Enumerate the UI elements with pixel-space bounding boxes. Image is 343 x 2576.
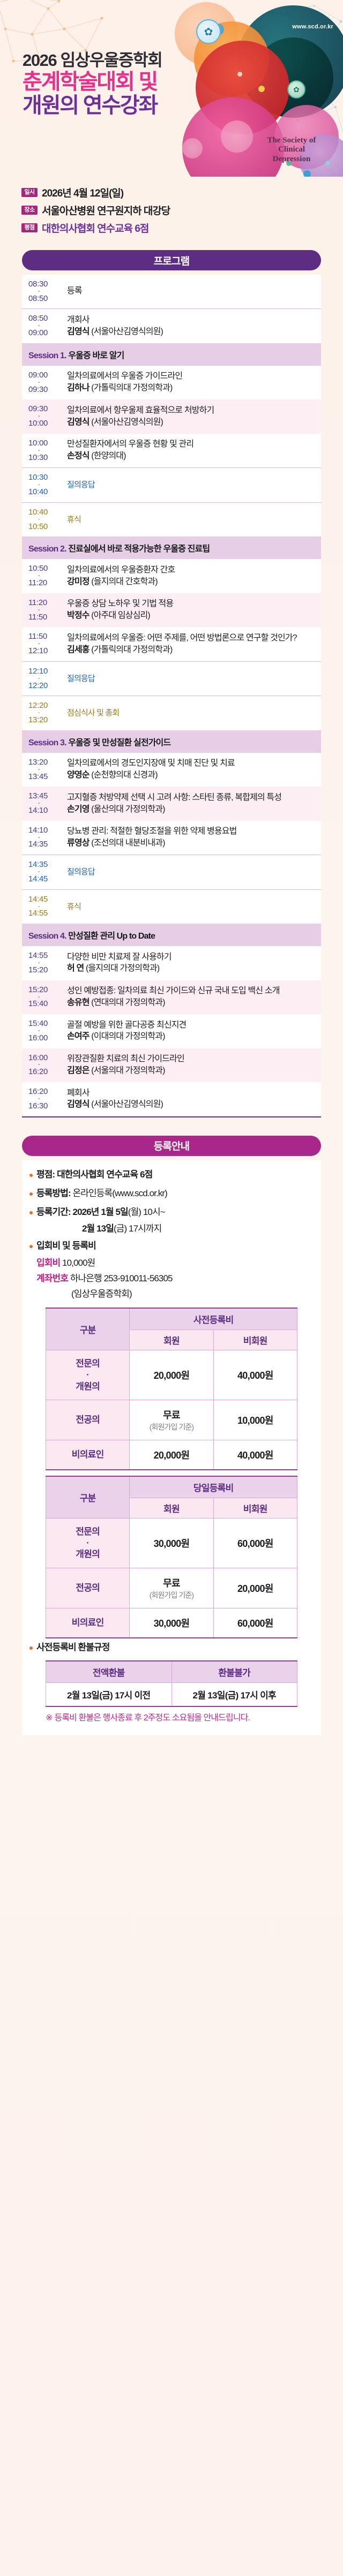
program-time: 14:10-14:35	[28, 826, 67, 849]
fee-line-1: 계좌번호 하나은행 253-910011-56305	[22, 1271, 321, 1287]
registration-bullet-1-text: 등록방법: 온라인등록(www.scd.or.kr)	[36, 1188, 167, 1200]
fee-col-header-nonmember: 비회원	[213, 1330, 297, 1350]
program-speaker: 김영식 (서울아산김영식의원)	[67, 1099, 316, 1111]
session-title: 만성질환 관리 Up to Date	[68, 932, 155, 941]
speaker-name: 김정은	[67, 1066, 90, 1075]
fee-line-label: 계좌번호	[36, 1273, 68, 1283]
program-speaker: 김하나 (가톨릭의대 가정의학과)	[67, 383, 316, 394]
fee-category: 전공의	[46, 1400, 130, 1440]
program-title: 휴식	[67, 515, 316, 525]
time-end: 16:00	[28, 1034, 48, 1043]
program-body: 우울증 상담 노하우 및 기법 적용박정수 (아주대 임상심리)	[67, 599, 316, 622]
program-speaker: 양영순 (순천향의대 신경과)	[67, 770, 316, 781]
program-body: 고지혈증 처방약제 선택 시 고려 사항: 스타틴 종류, 복합제의 특성손기영…	[67, 792, 316, 815]
fee-line-0: 입회비 10,000원	[22, 1256, 321, 1271]
meta-tag-label: 평점	[21, 223, 38, 232]
speaker-name: 허 연	[67, 964, 84, 973]
program-time: 15:40-16:00	[28, 1019, 67, 1043]
program-title: 일차의료에서의 경도인지장애 및 치매 진단 및 치료	[67, 758, 316, 769]
period-end-time: (금) 17시까지	[114, 1223, 161, 1234]
program-body: 휴식	[67, 508, 316, 531]
time-end: 12:10	[28, 647, 48, 656]
meta-value: 대한의사협회 연수교육 6점	[42, 221, 148, 235]
program-time: 14:35-14:45	[28, 860, 67, 883]
time-end: 11:20	[28, 579, 47, 588]
program-speaker: 김세홍 (가톨릭의대 가정의학과)	[67, 645, 316, 656]
program-time: 13:20-13:45	[28, 758, 67, 781]
fee-col-header-member: 회원	[130, 1330, 213, 1350]
program-row: 16:00-16:20위장관질환 치료의 최신 가이드라인김정은 (서울의대 가…	[22, 1048, 321, 1082]
meta-row-장소: 장소서울아산병원 연구원지하 대강당	[21, 203, 343, 217]
registration-period-line-2: 2월 13일(금) 17시까지	[22, 1221, 321, 1237]
registration-bullet-0-text: 평점: 대한의사협회 연수교육 6점	[36, 1169, 152, 1181]
fee-member-value: 무료(회원가입 기준)	[130, 1568, 213, 1608]
program-speaker: 박정수 (아주대 임상심리)	[67, 610, 316, 622]
program-body: 성인 예방접종: 일차의료 최신 가이드와 신규 국내 도입 백신 소개송유현 …	[67, 986, 316, 1009]
program-row: 14:10-14:35당뇨병 관리: 적절한 혈당조절을 위한 약제 병용요법류…	[22, 821, 321, 855]
program-time: 08:50-09:00	[28, 314, 67, 337]
bullet-label: 등록방법:	[36, 1188, 73, 1198]
program-row: 10:30-10:40질의응답	[22, 467, 321, 502]
time-end: 11:50	[28, 613, 47, 622]
speaker-name: 김세홍	[67, 645, 90, 654]
program-body: 질의응답	[67, 860, 316, 883]
fee-col-header-category: 구분	[46, 1476, 130, 1519]
session-header: Session 4. 만성질환 관리 Up to Date	[22, 924, 321, 946]
program-title: 휴식	[67, 902, 316, 912]
registration-bullet-1: 등록방법: 온라인등록(www.scd.or.kr)	[22, 1184, 321, 1203]
session-title: 진료실에서 바로 적용가능한 우울증 진료팁	[68, 545, 210, 554]
footnote-text: 등록비 환불은 행사종료 후 2주정도 소요됨을 안내드립니다.	[55, 1712, 250, 1724]
speaker-name: 손기영	[67, 805, 90, 814]
program-time: 09:30-10:00	[28, 405, 67, 428]
time-end: 10:40	[28, 488, 48, 497]
program-time: 10:30-10:40	[28, 473, 67, 496]
program-time: 09:00-09:30	[28, 371, 67, 394]
fee-member-amount: 30,000원	[131, 1616, 212, 1630]
title-line-1: 2026 임상우울증학회	[23, 51, 162, 69]
title-line-3: 개원의 연수강좌	[23, 94, 162, 117]
fee-col-header-member: 회원	[130, 1498, 213, 1518]
program-title: 점심식사 및 총회	[67, 708, 316, 719]
session-title: 우울증 및 만성질환 실전가이드	[68, 738, 170, 747]
fee-member-amount: 무료	[131, 1576, 212, 1590]
program-time: 14:45-14:55	[28, 895, 67, 918]
fee-col-header-nonmember: 비회원	[213, 1498, 297, 1518]
program-row: 14:45-14:55휴식	[22, 889, 321, 924]
refund-footnote: ※등록비 환불은 행사종료 후 2주정도 소요됨을 안내드립니다.	[46, 1712, 297, 1724]
program-row: 09:00-09:30일차의료에서의 우울증 가이드라인김하나 (가톨릭의대 가…	[22, 366, 321, 399]
time-end: 10:30	[28, 454, 48, 463]
decor-blob-soft-2	[182, 138, 203, 158]
program-title: 당뇨병 관리: 적절한 혈당조절을 위한 약제 병용요법	[67, 826, 316, 837]
society-name-en: The Society of Clinical Depression	[259, 136, 324, 164]
time-end: 09:30	[28, 386, 48, 395]
fee-member-amount: 20,000원	[131, 1368, 212, 1382]
registration-bullet-0: 평점: 대한의사협회 연수교육 6점	[22, 1166, 321, 1184]
time-end: 14:10	[28, 806, 48, 815]
hero-header: ✿ ✿ www.scd.or.kr The Society of Clinica…	[0, 0, 343, 177]
program-time: 13:45-14:10	[28, 792, 67, 815]
session-header: Session 3. 우울증 및 만성질환 실전가이드	[22, 730, 321, 753]
program-time: 11:50-12:10	[28, 632, 67, 655]
program-row: 12:20-13:20점심식사 및 총회	[22, 696, 321, 730]
flower-hands-emblem-small-icon: ✿	[287, 80, 305, 99]
program-time: 08:30-08:50	[28, 280, 67, 303]
program-speaker: 허 연 (을지의대 가정의학과)	[67, 963, 316, 975]
program-speaker: 김영식 (서울아산김영식의원)	[67, 327, 316, 338]
footnote-mark-icon: ※	[46, 1712, 53, 1724]
fee-table-row: 전문의·개원의30,000원60,000원	[46, 1518, 297, 1568]
fee-nonmember-value: 60,000원	[213, 1608, 297, 1638]
fee-category: 비의료인	[46, 1608, 130, 1638]
decor-dot-yellow	[258, 86, 265, 92]
program-body: 일차의료에서 항우울제 효율적으로 처방하기김영식 (서울아산김영식의원)	[67, 405, 316, 428]
session-header: Session 2. 진료실에서 바로 적용가능한 우울증 진료팁	[22, 537, 321, 559]
program-speaker: 김정은 (서울의대 가정의학과)	[67, 1066, 316, 1077]
speaker-name: 박정수	[67, 611, 90, 620]
time-end: 13:20	[28, 716, 48, 725]
fee-category: 전문의·개원의	[46, 1518, 130, 1568]
speaker-affiliation: (이대의대 가정의학과)	[90, 1032, 165, 1041]
program-time: 10:50-11:20	[28, 564, 67, 587]
program-speaker: 김영식 (서울아산김영식의원)	[67, 417, 316, 428]
registration-banner: 등록안내	[22, 1136, 321, 1156]
program-row: 15:20-15:40성인 예방접종: 일차의료 최신 가이드와 신규 국내 도…	[22, 980, 321, 1014]
speaker-name: 양영순	[67, 770, 90, 780]
program-row: 11:50-12:10일차의료에서의 우울증: 어떤 주제를, 어떤 방법론으로…	[22, 627, 321, 661]
fee-table-row: 전공의무료(회원가입 기준)20,000원	[46, 1568, 297, 1608]
program-body: 일차의료에서의 우울증환자 간호강미정 (을지의대 간호학과)	[67, 564, 316, 587]
session-number: Session 1.	[28, 351, 68, 360]
time-end: 16:20	[28, 1068, 48, 1077]
speaker-affiliation: (을지의대 간호학과)	[90, 577, 158, 586]
refund-value-0: 2월 13일(금) 17시 이전	[46, 1682, 172, 1706]
program-time: 10:00-10:30	[28, 439, 67, 462]
fee-nonmember-value: 20,000원	[213, 1568, 297, 1608]
program-row: 10:40-10:50휴식	[22, 502, 321, 537]
program-body: 등록	[67, 280, 316, 303]
meta-row-일시: 일시2026년 4월 12일(일)	[21, 185, 343, 200]
program-row: 09:30-10:00일차의료에서 항우울제 효율적으로 처방하기김영식 (서울…	[22, 399, 321, 433]
time-end: 10:00	[28, 419, 48, 428]
bullet-dot-icon	[29, 1211, 33, 1214]
refund-policy-bullet-text: 사전등록비 환불규정	[36, 1642, 109, 1654]
meta-value: 서울아산병원 연구원지하 대강당	[42, 203, 170, 217]
program-row: 08:30-08:50등록	[22, 275, 321, 308]
time-end: 14:35	[28, 840, 48, 849]
fee-table-0: 구분사전등록비회원비회원전문의·개원의20,000원40,000원전공의무료(회…	[46, 1308, 297, 1470]
program-body: 위장관질환 치료의 최신 가이드라인김정은 (서울의대 가정의학과)	[67, 1054, 316, 1077]
fee-col-header-category: 구분	[46, 1308, 130, 1350]
time-end: 12:20	[28, 682, 48, 691]
fee-table-row: 전공의무료(회원가입 기준)10,000원	[46, 1400, 297, 1440]
program-body: 골절 예방을 위한 골다공증 최신지견손여주 (이대의대 가정의학과)	[67, 1019, 316, 1043]
speaker-affiliation: (울산의대 가정의학과)	[90, 805, 165, 814]
time-end: 16:30	[28, 1102, 48, 1111]
program-body: 점심식사 및 총회	[67, 701, 316, 724]
program-body: 일차의료에서의 우울증 가이드라인김하나 (가톨릭의대 가정의학과)	[67, 371, 316, 394]
registration-bullet-2-text: 등록기간: 2026년 1월 5일(월) 10시~	[36, 1206, 165, 1219]
program-body: 질의응답	[67, 473, 316, 496]
bullet-strong: 6점	[140, 1169, 152, 1180]
time-end: 15:40	[28, 1000, 48, 1009]
refund-header-1: 환불불가	[171, 1661, 297, 1683]
program-time: 16:00-16:20	[28, 1054, 67, 1077]
program-row: 14:35-14:45질의응답	[22, 855, 321, 889]
fee-category: 비의료인	[46, 1440, 130, 1470]
website-url: www.scd.or.kr	[292, 24, 333, 30]
program-time: 14:55-15:20	[28, 951, 67, 975]
program-title: 일차의료에서의 우울증 가이드라인	[67, 371, 316, 382]
title-line-2: 춘계학술대회 및	[23, 71, 162, 93]
program-body: 개회사김영식 (서울아산김영식의원)	[67, 314, 316, 337]
speaker-name: 손정식	[67, 451, 90, 460]
fee-table-row: 전문의·개원의20,000원40,000원	[46, 1350, 297, 1400]
speaker-name: 송유현	[67, 998, 90, 1007]
conference-poster: ✿ ✿ www.scd.or.kr The Society of Clinica…	[0, 0, 343, 2576]
program-banner: 프로그램	[22, 250, 321, 270]
program-time: 15:20-15:40	[28, 986, 67, 1009]
registration-bullet-2: 등록기간: 2026년 1월 5일(월) 10시~	[22, 1203, 321, 1222]
program-title: 개회사	[67, 315, 316, 326]
decor-dot-cream	[237, 72, 242, 77]
speaker-affiliation: (서울의대 가정의학과)	[90, 1066, 165, 1075]
program-row: 10:00-10:30만성질환자에서의 우울증 현황 및 관리손정식 (한양의대…	[22, 434, 321, 467]
program-title: 고지혈증 처방약제 선택 시 고려 사항: 스타틴 종류, 복합제의 특성	[67, 792, 316, 804]
fee-table-row: 비의료인30,000원60,000원	[46, 1608, 297, 1638]
refund-table: 전액환불환불불가2월 13일(금) 17시 이전2월 13일(금) 17시 이후	[46, 1660, 297, 1707]
speaker-name: 강미정	[67, 577, 90, 586]
program-row: 15:40-16:00골절 예방을 위한 골다공증 최신지견손여주 (이대의대 …	[22, 1014, 321, 1048]
program-table: 08:30-08:50등록08:50-09:00개회사김영식 (서울아산김영식의…	[22, 275, 321, 1117]
session-title: 우울증 바로 알기	[68, 351, 124, 360]
fee-member-value: 30,000원	[130, 1518, 213, 1568]
program-title: 일차의료에서 항우울제 효율적으로 처방하기	[67, 405, 316, 417]
program-title: 골절 예방을 위한 골다공증 최신지견	[67, 1020, 316, 1031]
program-body: 일차의료에서의 우울증: 어떤 주제를, 어떤 방법론으로 연구할 것인가?김세…	[67, 632, 316, 655]
program-title: 만성질환자에서의 우울증 현황 및 관리	[67, 439, 316, 450]
session-header: Session 1. 우울증 바로 알기	[22, 343, 321, 366]
fee-nonmember-value: 10,000원	[213, 1400, 297, 1440]
decor-dot-cyan	[303, 170, 311, 177]
time-end: 14:55	[28, 909, 48, 918]
time-end: 13:45	[28, 773, 48, 782]
program-row: 10:50-11:20일차의료에서의 우울증환자 간호강미정 (을지의대 간호학…	[22, 559, 321, 593]
bullet-dot-icon	[29, 1245, 33, 1248]
registration-fee-bullet-text: 입회비 및 등록비	[36, 1240, 96, 1252]
decor-dot-lightblue	[325, 161, 330, 165]
bullet-label: 등록기간: 2026년	[36, 1207, 101, 1217]
meta-tag-label: 장소	[21, 206, 38, 215]
event-meta: 일시2026년 4월 12일(일)장소서울아산병원 연구원지하 대강당평점대한의…	[0, 177, 343, 244]
time-end: 15:20	[28, 966, 48, 975]
program-speaker: 손정식 (한양의대)	[67, 451, 316, 462]
fee-category: 전문의·개원의	[46, 1350, 130, 1400]
program-title: 일차의료에서의 우울증: 어떤 주제를, 어떤 방법론으로 연구할 것인가?	[67, 633, 316, 644]
bullet-dot-icon	[29, 1646, 33, 1650]
account-holder: (임상우울증학회)	[22, 1287, 321, 1302]
speaker-affiliation: (서울아산김영식의원)	[90, 327, 163, 336]
speaker-affiliation: (을지의대 가정의학과)	[84, 964, 159, 973]
fee-category: 전공의	[46, 1568, 130, 1608]
bullet-rest: 온라인등록(www.scd.or.kr)	[73, 1188, 167, 1198]
time-end: 09:00	[28, 329, 48, 338]
registration-panel: 평점: 대한의사협회 연수교육 6점등록방법: 온라인등록(www.scd.or…	[22, 1160, 321, 1736]
fee-nonmember-value: 60,000원	[213, 1518, 297, 1568]
session-number: Session 2.	[28, 545, 68, 554]
fee-bullet-label: 입회비 및 등록비	[36, 1241, 96, 1251]
fee-member-amount: 30,000원	[131, 1536, 212, 1550]
speaker-name: 김영식	[67, 1100, 90, 1109]
time-start: 15:20	[28, 986, 48, 995]
fee-line-value: 하나은행 253-910011-56305	[68, 1273, 173, 1283]
speaker-affiliation: (연대의대 가정의학과)	[90, 998, 165, 1007]
speaker-affiliation: (서울아산김영식의원)	[90, 418, 163, 427]
fee-member-value: 무료(회원가입 기준)	[130, 1400, 213, 1440]
bullet-rest: (월) 10시~	[128, 1207, 165, 1217]
program-time: 11:20-11:50	[28, 599, 67, 622]
fee-member-amount: 무료	[131, 1408, 212, 1422]
program-row: 12:10-12:20질의응답	[22, 661, 321, 696]
fee-nonmember-value: 40,000원	[213, 1440, 297, 1470]
program-body: 질의응답	[67, 667, 316, 690]
bullet-dot-icon	[29, 1192, 33, 1196]
program-title: 위장관질환 치료의 최신 가이드라인	[67, 1054, 316, 1065]
fee-member-note: (회원가입 기준)	[131, 1422, 212, 1432]
fee-nonmember-value: 40,000원	[213, 1350, 297, 1400]
program-title: 등록	[67, 286, 316, 297]
program-body: 당뇨병 관리: 적절한 혈당조절을 위한 약제 병용요법류영상 (조선의대 내분…	[67, 826, 316, 849]
session-number: Session 3.	[28, 738, 68, 747]
speaker-affiliation: (서울아산김영식의원)	[90, 1100, 163, 1109]
fee-table-row: 비의료인20,000원40,000원	[46, 1440, 297, 1470]
time-end: 08:50	[28, 294, 48, 304]
speaker-affiliation: (가톨릭의대 가정의학과)	[90, 383, 173, 392]
program-row: 13:20-13:45일차의료에서의 경도인지장애 및 치매 진단 및 치료양영…	[22, 753, 321, 787]
fee-line-value: 10,000원	[60, 1258, 95, 1268]
program-speaker: 손여주 (이대의대 가정의학과)	[67, 1031, 316, 1043]
speaker-name: 손여주	[67, 1032, 90, 1041]
program-row: 14:55-15:20다양한 비만 치료제 잘 사용하기허 연 (을지의대 가정…	[22, 946, 321, 980]
fee-member-note: (회원가입 기준)	[131, 1590, 212, 1600]
program-time: 16:20-16:30	[28, 1087, 67, 1111]
program-speaker: 송유현 (연대의대 가정의학과)	[67, 998, 316, 1009]
meta-value: 2026년 4월 12일(일)	[42, 185, 123, 200]
speaker-affiliation: (순천향의대 신경과)	[90, 770, 158, 780]
bullet-strong: 1월 5일	[101, 1207, 128, 1217]
program-body: 다양한 비만 치료제 잘 사용하기허 연 (을지의대 가정의학과)	[67, 951, 316, 975]
fee-member-amount: 20,000원	[131, 1448, 212, 1462]
program-title: 질의응답	[67, 867, 316, 878]
time-end: 14:45	[28, 875, 48, 884]
bullet-label: 평점: 대한의사협회 연수교육	[36, 1169, 140, 1180]
program-time: 10:40-10:50	[28, 508, 67, 531]
bullet-dot-icon	[29, 1174, 33, 1177]
program-title: 우울증 상담 노하우 및 기법 적용	[67, 599, 316, 610]
program-body: 폐회사김영식 (서울아산김영식의원)	[67, 1087, 316, 1111]
program-row: 16:20-16:30폐회사김영식 (서울아산김영식의원)	[22, 1082, 321, 1116]
registration-fee-bullet: 입회비 및 등록비	[22, 1237, 321, 1256]
speaker-name: 김영식	[67, 327, 90, 336]
program-row: 11:20-11:50우울증 상담 노하우 및 기법 적용박정수 (아주대 임상…	[22, 593, 321, 627]
speaker-affiliation: (조선의대 내분비내과)	[90, 838, 165, 848]
period-end-date: 2월 13일	[82, 1223, 114, 1234]
program-speaker: 강미정 (을지의대 간호학과)	[67, 577, 316, 588]
session-number: Session 4.	[28, 932, 68, 941]
speaker-affiliation: (가톨릭의대 가정의학과)	[90, 645, 173, 654]
fee-table-1: 구분당일등록비회원비회원전문의·개원의30,000원60,000원전공의무료(회…	[46, 1476, 297, 1638]
fee-member-value: 30,000원	[130, 1608, 213, 1638]
poster-title: 2026 임상우울증학회 춘계학술대회 및 개원의 연수강좌	[23, 51, 162, 117]
program-title: 질의응답	[67, 674, 316, 684]
speaker-affiliation: (아주대 임상심리)	[90, 611, 150, 620]
meta-row-평점: 평점대한의사협회 연수교육 6점	[21, 221, 343, 235]
flower-hands-emblem-icon: ✿	[196, 19, 221, 44]
decor-blob-soft-1	[221, 120, 253, 153]
program-row: 13:45-14:10고지혈증 처방약제 선택 시 고려 사항: 스타틴 종류,…	[22, 787, 321, 820]
program-title: 질의응답	[67, 480, 316, 490]
fee-col-header-group: 당일등록비	[130, 1476, 297, 1498]
speaker-affiliation: (한양의대)	[90, 451, 126, 460]
speaker-name: 김하나	[67, 383, 90, 392]
program-speaker: 류영상 (조선의대 내분비내과)	[67, 838, 316, 849]
program-body: 일차의료에서의 경도인지장애 및 치매 진단 및 치료양영순 (순천향의대 신경…	[67, 758, 316, 781]
refund-policy-bullet: 사전등록비 환불규정	[22, 1638, 321, 1657]
fee-col-header-group: 사전등록비	[130, 1308, 297, 1330]
program-body: 휴식	[67, 895, 316, 918]
program-title: 성인 예방접종: 일차의료 최신 가이드와 신규 국내 도입 백신 소개	[67, 986, 316, 997]
program-title: 다양한 비만 치료제 잘 사용하기	[67, 952, 316, 963]
refund-value-1: 2월 13일(금) 17시 이후	[171, 1682, 297, 1706]
program-row: 08:50-09:00개회사김영식 (서울아산김영식의원)	[22, 308, 321, 343]
fee-line-label: 입회비	[36, 1258, 60, 1268]
program-title: 폐회사	[67, 1088, 316, 1099]
speaker-name: 김영식	[67, 418, 90, 427]
speaker-name: 류영상	[67, 838, 90, 848]
program-time: 12:20-13:20	[28, 701, 67, 724]
time-end: 10:50	[28, 523, 48, 532]
refund-bullet-label: 사전등록비 환불규정	[36, 1642, 109, 1652]
program-body: 만성질환자에서의 우울증 현황 및 관리손정식 (한양의대)	[67, 439, 316, 462]
fee-member-value: 20,000원	[130, 1440, 213, 1470]
refund-header-0: 전액환불	[46, 1661, 172, 1683]
program-time: 12:10-12:20	[28, 667, 67, 690]
program-speaker: 손기영 (울산의대 가정의학과)	[67, 804, 316, 815]
program-title: 일차의료에서의 우울증환자 간호	[67, 565, 316, 576]
fee-member-value: 20,000원	[130, 1350, 213, 1400]
meta-tag-label: 일시	[21, 188, 38, 197]
